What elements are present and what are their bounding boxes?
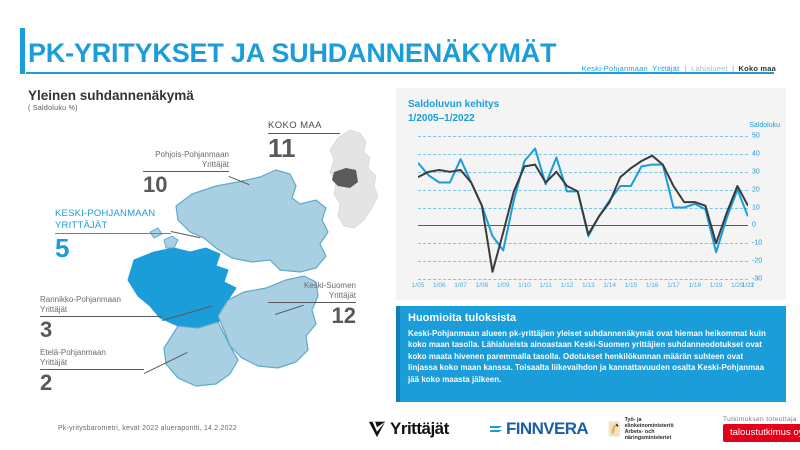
gridline--30 <box>418 279 748 280</box>
callout-rule <box>55 233 171 234</box>
y-tick-10: 10 <box>752 204 760 211</box>
notes-title: Huomioita tuloksista <box>408 312 516 324</box>
callout-label-line1: KESKI-POHJANMAAN <box>55 208 171 220</box>
callout-value: 3 <box>40 318 162 341</box>
breadcrumb-separator-1: | <box>685 64 687 73</box>
callout-label: KOKO MAA <box>268 120 340 132</box>
callout-label-line2: Yrittäjät <box>143 160 229 170</box>
x-tick-1-08: 1/08 <box>476 282 489 289</box>
y-tick-0: 0 <box>752 222 756 229</box>
finnvera-mark-icon <box>488 422 504 436</box>
header-accent-bar <box>20 28 25 74</box>
y-tick-50: 50 <box>752 133 760 140</box>
callout-label-line2: Yrittäjät <box>40 305 162 315</box>
x-tick-1-22: 1/22 <box>742 282 755 289</box>
callout-rule <box>40 316 162 317</box>
logo-yrittajat: Yrittäjät <box>368 414 449 444</box>
callout-rannikko-pohjanmaa: Rannikko-Pohjanmaan Yrittäjät 3 <box>40 295 162 341</box>
x-tick-1-11: 1/11 <box>540 282 552 289</box>
logo-tem-line1: Työ- ja elinkeinoministeriö <box>625 417 680 429</box>
x-tick-1-13: 1/13 <box>582 282 595 289</box>
x-tick-1-05: 1/05 <box>412 282 425 289</box>
x-tick-1-15: 1/15 <box>625 282 638 289</box>
callout-label-line1: Rannikko-Pohjanmaan <box>40 295 162 305</box>
callout-keski-pohjanmaa: KESKI-POHJANMAAN YRITTÄJÄT 5 <box>55 208 171 262</box>
breadcrumb: Keski-Pohjanmaan Yrittäjät | Lähialueet … <box>581 64 776 73</box>
callout-keski-suomen: Keski-Suomen Yrittäjät 12 <box>268 281 356 327</box>
y-tick--10: -10 <box>752 240 762 247</box>
x-tick-1-06: 1/06 <box>433 282 446 289</box>
callout-rule <box>40 369 144 370</box>
x-tick-1-07: 1/07 <box>454 282 467 289</box>
x-tick-1-09: 1/09 <box>497 282 510 289</box>
logo-tem-line2: Arbets- och näringsministeriet <box>625 429 680 441</box>
taloustutkimus-caption: Tutkimuksen toteuttaja <box>723 416 797 423</box>
logo-finnvera-text: FINNVERA <box>506 419 588 439</box>
callout-value: 2 <box>40 371 144 394</box>
chart-title-line2: 1/2005–1/2022 <box>408 112 499 126</box>
callout-value: 10 <box>143 173 229 196</box>
callout-value: 12 <box>268 304 356 327</box>
chart-title: Saldoluvun kehitys 1/2005–1/2022 <box>408 98 499 125</box>
callout-label-line1: Etelä-Pohjanmaan <box>40 348 144 358</box>
footer-source-note: Pk-yritysbarometri, kevät 2022 aluerapon… <box>58 425 237 432</box>
breadcrumb-whole-country[interactable]: Koko maa <box>739 64 776 73</box>
notes-body: Keski-Pohjanmaan alueen pk-yrittäjien yl… <box>408 328 774 385</box>
y-tick-30: 30 <box>752 168 760 175</box>
callout-label-line1: Pohjois-Pohjanmaan <box>143 150 229 160</box>
y-axis-label: Saldoluku <box>749 122 780 129</box>
breadcrumb-nearby[interactable]: Lähialueet <box>691 64 728 73</box>
chart-panel: Saldoluvun kehitys 1/2005–1/2022 Saldolu… <box>396 88 786 300</box>
y-tick--20: -20 <box>752 258 762 265</box>
x-tick-1-16: 1/16 <box>646 282 659 289</box>
callout-label-line2: Yrittäjät <box>40 358 144 368</box>
x-tick-1-14: 1/14 <box>603 282 616 289</box>
taloustutkimus-badge: taloustutkimus oy <box>723 424 800 442</box>
callout-value: 5 <box>55 235 171 262</box>
logo-yrittajat-text: Yrittäjät <box>390 419 449 439</box>
logo-finnvera: FINNVERA <box>488 414 588 444</box>
x-tick-1-10: 1/10 <box>518 282 531 289</box>
callout-label-line2: Yrittäjät <box>268 291 356 301</box>
x-tick-1-17: 1/17 <box>667 282 680 289</box>
series-line-keski-pohjanmaan-yritt-j-t <box>418 149 748 253</box>
left-panel-subheading: ( Saldoluku %) <box>28 105 78 112</box>
logo-taloustutkimus: Tutkimuksen toteuttaja taloustutkimus oy <box>723 416 800 444</box>
callout-label-line2: YRITTÄJÄT <box>55 220 171 232</box>
breadcrumb-entrepreneurs[interactable]: Yrittäjät <box>652 64 679 73</box>
callout-koko-maa: KOKO MAA 11 <box>268 120 340 162</box>
breadcrumb-region[interactable]: Keski-Pohjanmaan <box>582 64 648 73</box>
y-tick-40: 40 <box>752 150 760 157</box>
notes-box: Huomioita tuloksista Keski-Pohjanmaan al… <box>396 306 786 402</box>
x-tick-1-19: 1/19 <box>710 282 723 289</box>
callout-value: 11 <box>268 135 340 162</box>
x-tick-1-12: 1/12 <box>561 282 574 289</box>
yrittajat-mark-icon <box>368 417 386 441</box>
notes-accent-rail <box>396 306 400 402</box>
logo-tem: Työ- ja elinkeinoministeriö Arbets- och … <box>608 414 679 444</box>
page-title: PK-YRITYKSET JA SUHDANNENÄKYMÄT <box>28 38 556 69</box>
chart-title-line1: Saldoluvun kehitys <box>408 98 499 112</box>
left-panel-heading: Yleinen suhdannenäkymä <box>28 88 194 103</box>
breadcrumb-separator-2: | <box>732 64 734 73</box>
callout-label-line1: Keski-Suomen <box>268 281 356 291</box>
finnish-lion-coat-of-arms-icon <box>608 417 621 441</box>
x-tick-1-18: 1/18 <box>688 282 701 289</box>
chart-plot-area[interactable] <box>418 136 748 279</box>
y-tick-20: 20 <box>752 186 760 193</box>
callout-etela-pohjanmaa: Etelä-Pohjanmaan Yrittäjät 2 <box>40 348 144 394</box>
callout-pohjois-pohjanmaa: Pohjois-Pohjanmaan Yrittäjät 10 <box>143 150 229 196</box>
chart-series-svg <box>418 136 748 279</box>
